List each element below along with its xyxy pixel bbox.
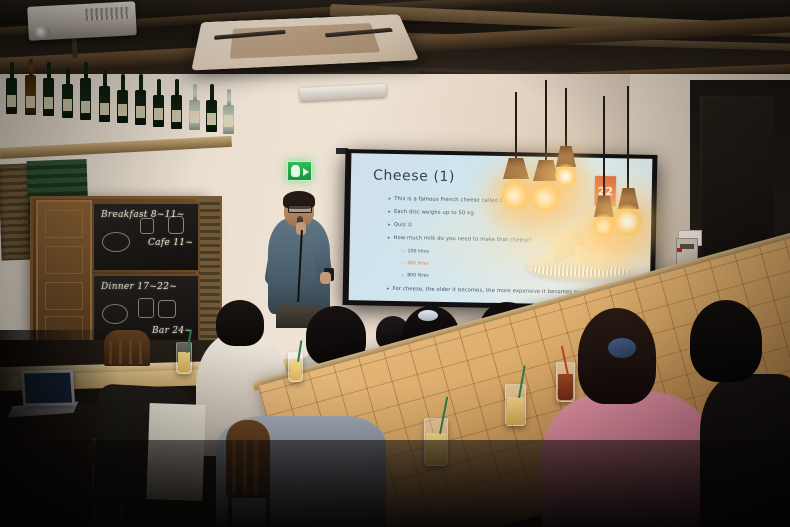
- slide-bullet-1: This is a famous French cheese called Co…: [389, 196, 520, 205]
- chair-leg: [266, 498, 270, 527]
- projector-lens-icon: [34, 26, 50, 39]
- juice-glass-2: [288, 352, 303, 382]
- chalk-dish-doodle: [102, 304, 128, 324]
- pendant-cord: [515, 92, 517, 164]
- chalk-cup-doodle: [140, 218, 154, 234]
- iced-tea-glass-2: [505, 384, 526, 426]
- wine-bottle: [80, 78, 91, 120]
- wine-bottle: [99, 86, 110, 122]
- chalk-bottle-doodle: [158, 300, 176, 318]
- pendant-cord: [603, 96, 605, 202]
- juice-glass-3: [424, 418, 448, 466]
- bottle-label: [81, 101, 90, 113]
- glass-liquid: [558, 374, 573, 400]
- arrow-right-icon: [303, 168, 309, 176]
- glass-liquid: [426, 433, 446, 464]
- projector-mount: [71, 36, 77, 58]
- photo-scene: Breakfast 8~11~ Cafe 11~ Dinner 17~22~ B…: [0, 0, 790, 527]
- wine-bottle: [25, 75, 36, 115]
- pendant-bulb: [593, 212, 615, 237]
- pendant-cord: [627, 86, 629, 194]
- presenter-right-hand: [320, 272, 331, 284]
- panel-indicator-light: [677, 248, 682, 252]
- laptop[interactable]: [21, 370, 76, 407]
- projector-vents: [85, 7, 130, 21]
- audience-white-shirt-hair: [216, 300, 264, 346]
- slide-option-1: 200 litres: [402, 249, 430, 255]
- ac-unit-intake-panel: [230, 23, 380, 59]
- chalk-plate-doodle: [102, 232, 130, 252]
- bottle-label: [100, 103, 109, 115]
- chair-spindles: [232, 440, 264, 494]
- chalkboard-bar-hours: Bar 24~: [152, 326, 192, 336]
- laptop-display: [24, 373, 72, 404]
- chair-leg: [228, 498, 232, 527]
- bottle-label: [207, 113, 216, 125]
- wine-bottle: [43, 78, 54, 116]
- wine-bottle: [206, 100, 217, 132]
- pendant-bulb: [531, 178, 561, 212]
- slide-bullet-3: Quiz ①: [388, 222, 413, 228]
- bottle-label: [136, 106, 145, 118]
- pendant-cord: [565, 88, 567, 152]
- iced-tea-glass: [556, 362, 575, 402]
- hair-clip: [418, 310, 438, 321]
- bottle-label: [44, 97, 53, 109]
- slide-title: Cheese (1): [373, 168, 455, 186]
- bottle-label: [7, 95, 16, 107]
- door-panel-inset: [45, 246, 83, 274]
- chalkboard-top: Breakfast 8~11~ Cafe 11~: [92, 202, 200, 272]
- slide-bullet-4: How much milk do you need to make that c…: [388, 235, 532, 244]
- chalkboard-cafe-hours: Cafe 11~: [148, 238, 193, 248]
- pendant-bulb: [555, 162, 577, 187]
- bottle-label: [118, 104, 127, 116]
- glass-liquid: [290, 361, 301, 380]
- glasses-icon: [288, 205, 312, 213]
- wine-bottle: [223, 105, 234, 134]
- wine-bottle: [171, 95, 182, 129]
- pendant-bulb: [501, 176, 531, 210]
- audience-black-top-body: [700, 374, 790, 527]
- cabinet-door-left[interactable]: [36, 200, 92, 348]
- wine-bottle: [135, 90, 146, 125]
- bottle-label: [190, 111, 199, 123]
- slide-closing-bullet: For cheese, the older it becomes, the mo…: [387, 286, 595, 296]
- slide-bullet-2: Each disc weighs up to 50 kg.: [388, 209, 475, 217]
- wine-bottle: [6, 78, 17, 114]
- running-person-icon: [291, 165, 300, 177]
- slide-option-3: 800 litres: [401, 273, 429, 279]
- wine-bottle: [62, 84, 73, 118]
- bottle-label: [172, 110, 181, 122]
- door-panel-inset: [45, 282, 83, 310]
- door-panel-inset: [45, 210, 83, 238]
- chalk-glass-doodle: [138, 298, 154, 318]
- ceiling-projector: [27, 1, 137, 41]
- wine-bottle: [153, 95, 164, 127]
- glass-liquid: [507, 397, 524, 424]
- bottle-label: [224, 115, 233, 127]
- chair-spindles: [109, 340, 145, 364]
- pendant-cord: [545, 80, 547, 166]
- glass-liquid: [178, 352, 190, 372]
- chalk-jug-doodle: [168, 216, 184, 234]
- paper-shopping-bag[interactable]: [146, 403, 205, 501]
- bottle-label: [26, 96, 35, 108]
- exit-sign: [287, 161, 312, 181]
- juice-glass-1: [176, 342, 192, 374]
- bottle-label: [63, 99, 72, 111]
- audience-black-top-hair: [690, 300, 762, 382]
- audience-pink-blouse-body: [542, 392, 712, 527]
- wine-bottle: [189, 100, 200, 130]
- bottle-label: [154, 108, 163, 120]
- chalkboard-dinner-hours: Dinner 17~22~: [101, 282, 177, 292]
- pendant-bulb: [613, 202, 643, 236]
- wine-bottle: [117, 90, 128, 123]
- slide-option-2: 400 litres: [401, 261, 429, 267]
- hair-scrunchie: [608, 338, 636, 358]
- wine-bottle-row: [0, 100, 250, 160]
